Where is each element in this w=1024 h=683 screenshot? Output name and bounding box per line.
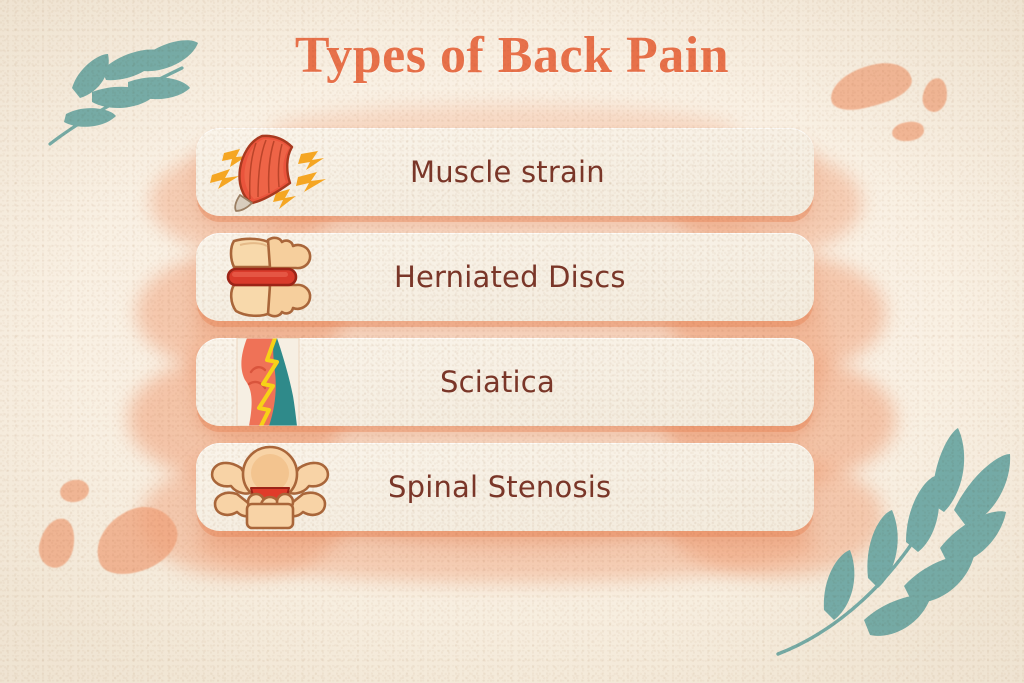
list-item[interactable]: Sciatica <box>196 338 814 426</box>
list-item[interactable]: Muscle strain <box>196 128 814 216</box>
strained-muscle-icon <box>196 128 344 216</box>
decorative-blob <box>891 120 925 142</box>
spinal-stenosis-vertebra-top-icon <box>196 443 344 531</box>
pain-type-list: Muscle strain Herniated Discs <box>196 128 814 548</box>
list-item-label: Herniated Discs <box>344 260 814 294</box>
list-item-label: Sciatica <box>344 365 814 399</box>
decorative-blob <box>35 515 79 571</box>
herniated-disc-vertebrae-icon <box>196 233 344 321</box>
page-title: Types of Back Pain <box>0 28 1024 84</box>
list-item[interactable]: Herniated Discs <box>196 233 814 321</box>
list-item[interactable]: Spinal Stenosis <box>196 443 814 531</box>
poster-canvas: Types of Back Pain <box>0 0 1024 683</box>
decorative-blob <box>86 496 187 584</box>
list-item-label: Spinal Stenosis <box>344 470 814 504</box>
list-item-label: Muscle strain <box>344 155 814 189</box>
decorative-blob <box>58 478 90 505</box>
sciatica-leg-nerve-icon <box>196 338 344 426</box>
